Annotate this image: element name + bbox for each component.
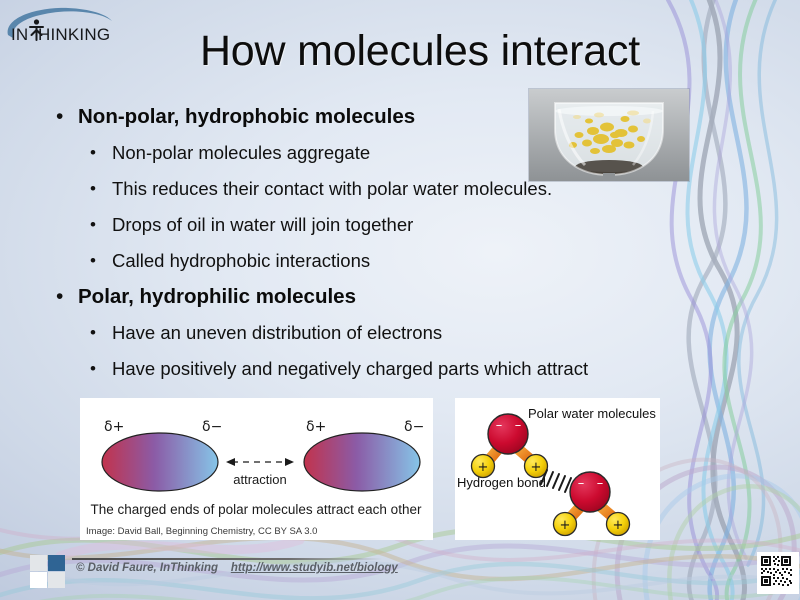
bullet-marker: • <box>90 210 112 239</box>
oxygen-charge-label: – <box>496 418 503 433</box>
bullet-marker: • <box>90 354 112 383</box>
logo-text-in: IN <box>11 25 28 44</box>
list-item: • Have an uneven distribution of electro… <box>90 318 716 347</box>
hydrogen-charge-label: + <box>560 518 571 533</box>
list-item: • Drops of oil in water will join togeth… <box>90 210 716 239</box>
bullet-text: Have positively and negatively charged p… <box>112 354 588 383</box>
footer-copyright: © David Faure, InThinking <box>76 562 218 574</box>
delta-minus-label-2: δ− <box>404 419 424 435</box>
bullet-text: Called hydrophobic interactions <box>112 246 370 275</box>
hydrogen-charge-label: + <box>531 460 542 475</box>
polar-molecule-attraction-diagram: δ+ δ− δ+ δ− attraction The charged ends … <box>80 398 433 540</box>
bullet-marker: • <box>56 282 78 312</box>
oxygen-charge-label: – <box>515 418 522 433</box>
qr-code[interactable] <box>757 552 799 594</box>
bullet-text: Have an uneven distribution of electrons <box>112 318 442 347</box>
polar-water-molecules-label: Polar water molecules <box>528 406 656 421</box>
oil-droplets-in-water-photo <box>529 89 689 181</box>
footer-square-br <box>48 572 65 588</box>
logo-text-hinking: HINKING <box>38 25 110 44</box>
footer-url-link[interactable]: http://www.studyib.net/biology <box>231 562 398 574</box>
inthinking-logo: IN HINKING <box>2 2 120 50</box>
bullet-marker: • <box>90 174 112 203</box>
footer-divider <box>72 558 382 560</box>
bullet-marker: • <box>90 138 112 167</box>
footer-square-bl <box>30 572 47 588</box>
bullet-marker: • <box>90 318 112 347</box>
image-credit: Image: David Ball, Beginning Chemistry, … <box>86 526 317 537</box>
footer-square-tl <box>30 555 47 571</box>
hydrogen-bond-label: Hydrogen bond <box>457 475 546 490</box>
hydrogen-charge-label: + <box>613 518 624 533</box>
bullet-text: Drops of oil in water will join together <box>112 210 413 239</box>
footer-logo-squares <box>30 555 66 589</box>
list-item: • Have positively and negatively charged… <box>90 354 716 383</box>
list-item: • Called hydrophobic interactions <box>90 246 716 275</box>
diagram-caption: The charged ends of polar molecules attr… <box>91 502 422 517</box>
delta-plus-label-2: δ+ <box>306 419 326 435</box>
bullet-marker: • <box>56 102 78 132</box>
oxygen-charge-label: – <box>597 476 604 491</box>
list-item: • Polar, hydrophilic molecules <box>56 282 716 312</box>
bullet-text: Non-polar, hydrophobic molecules <box>78 102 415 132</box>
hydrogen-charge-label: + <box>478 460 489 475</box>
delta-plus-label-1: δ+ <box>104 419 124 435</box>
bullet-text: Polar, hydrophilic molecules <box>78 282 356 312</box>
hydrogen-bond-diagram: – – + + – – + + <box>455 398 660 540</box>
bullet-marker: • <box>90 246 112 275</box>
attraction-label: attraction <box>233 472 286 487</box>
delta-minus-label-1: δ− <box>202 419 222 435</box>
oxygen-charge-label: – <box>578 476 585 491</box>
bullet-text: This reduces their contact with polar wa… <box>112 174 552 203</box>
footer-square-tr <box>48 555 65 571</box>
bullet-text: Non-polar molecules aggregate <box>112 138 370 167</box>
footer-credit: © David Faure, InThinking http://www.stu… <box>76 561 416 576</box>
page-title: How molecules interact <box>140 26 700 76</box>
slide-canvas: IN HINKING How molecules interact • Non-… <box>0 0 800 600</box>
